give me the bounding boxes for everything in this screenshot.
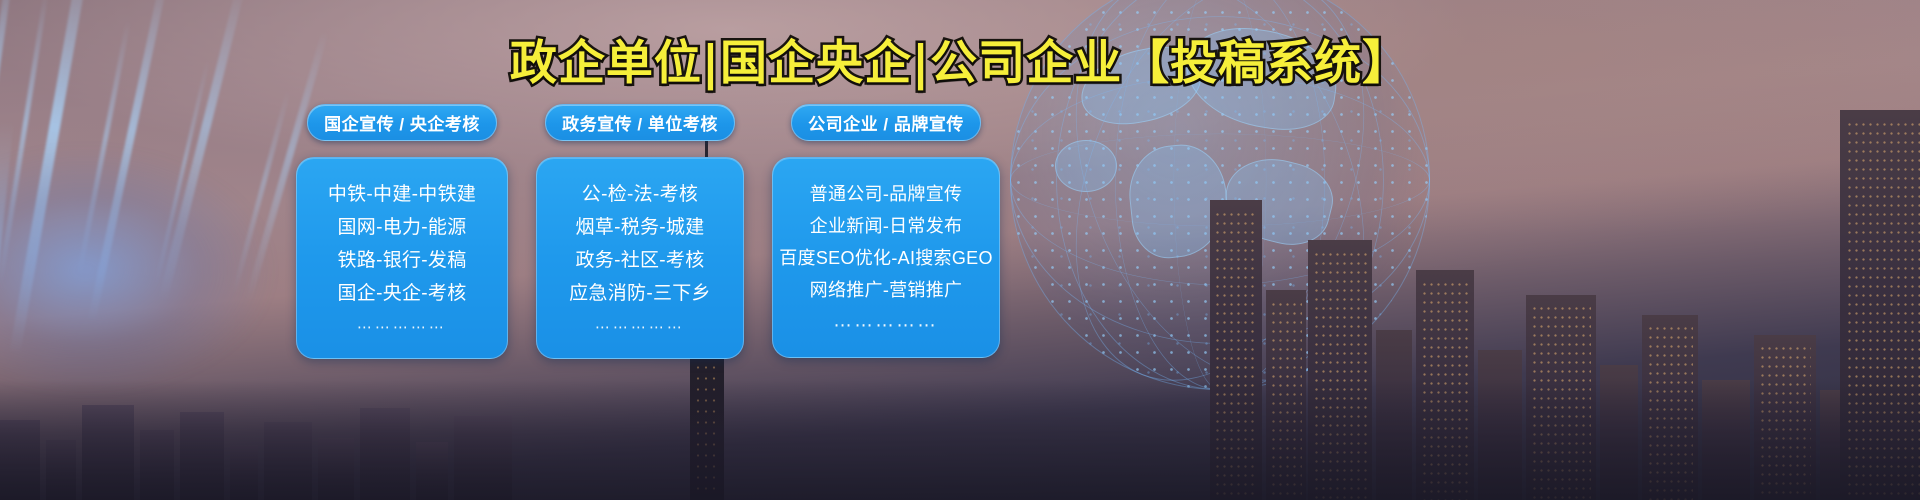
list-item: 铁路-银行-发稿 <box>303 244 501 277</box>
pill-label: 政务宣传 / 单位考核 <box>562 110 718 135</box>
page-title: 政企单位|国企央企|公司企业【投稿系统】 <box>0 24 1920 93</box>
pill-label: 国企宣传 / 央企考核 <box>324 110 480 135</box>
pill-government[interactable]: 政务宣传 / 单位考核 <box>545 104 735 141</box>
pill-label: 公司企业 / 品牌宣传 <box>808 110 964 135</box>
list-item: 国企-央企-考核 <box>303 277 501 310</box>
list-item: 烟草-税务-城建 <box>543 211 737 244</box>
category-column-government: 政务宣传 / 单位考核 公-检-法-考核 烟草-税务-城建 政务-社区-考核 应… <box>536 104 744 359</box>
category-column-company: 公司企业 / 品牌宣传 普通公司-品牌宣传 企业新闻-日常发布 百度SEO优化-… <box>772 104 1000 358</box>
list-item: 百度SEO优化-AI搜索GEO <box>779 242 993 274</box>
list-item: 企业新闻-日常发布 <box>779 210 993 242</box>
list-item-ellipsis: ⋯⋯⋯⋯⋯ <box>303 310 501 342</box>
list-item: 中铁-中建-中铁建 <box>303 178 501 211</box>
banner-content: 政企单位|国企央企|公司企业【投稿系统】 国企宣传 / 央企考核 中铁-中建-中… <box>0 0 1920 500</box>
card-company[interactable]: 普通公司-品牌宣传 企业新闻-日常发布 百度SEO优化-AI搜索GEO 网络推广… <box>772 157 1000 358</box>
list-item: 普通公司-品牌宣传 <box>779 178 993 210</box>
list-item: 国网-电力-能源 <box>303 211 501 244</box>
list-item: 公-检-法-考核 <box>543 178 737 211</box>
card-state-enterprise[interactable]: 中铁-中建-中铁建 国网-电力-能源 铁路-银行-发稿 国企-央企-考核 ⋯⋯⋯… <box>296 157 508 359</box>
list-item: 应急消防-三下乡 <box>543 277 737 310</box>
category-column-state-enterprise: 国企宣传 / 央企考核 中铁-中建-中铁建 国网-电力-能源 铁路-银行-发稿 … <box>296 104 508 359</box>
list-item: 网络推广-营销推广 <box>779 274 993 306</box>
promo-banner: 政企单位|国企央企|公司企业【投稿系统】 国企宣传 / 央企考核 中铁-中建-中… <box>0 0 1920 500</box>
category-columns: 国企宣传 / 央企考核 中铁-中建-中铁建 国网-电力-能源 铁路-银行-发稿 … <box>296 104 1000 359</box>
card-government[interactable]: 公-检-法-考核 烟草-税务-城建 政务-社区-考核 应急消防-三下乡 ⋯⋯⋯⋯… <box>536 157 744 359</box>
list-item: 政务-社区-考核 <box>543 244 737 277</box>
pill-company[interactable]: 公司企业 / 品牌宣传 <box>791 104 981 141</box>
pill-state-enterprise[interactable]: 国企宣传 / 央企考核 <box>307 104 497 141</box>
list-item-ellipsis: ⋯⋯⋯⋯⋯ <box>543 310 737 342</box>
list-item-ellipsis: ⋯⋯⋯⋯⋯ <box>779 306 993 341</box>
